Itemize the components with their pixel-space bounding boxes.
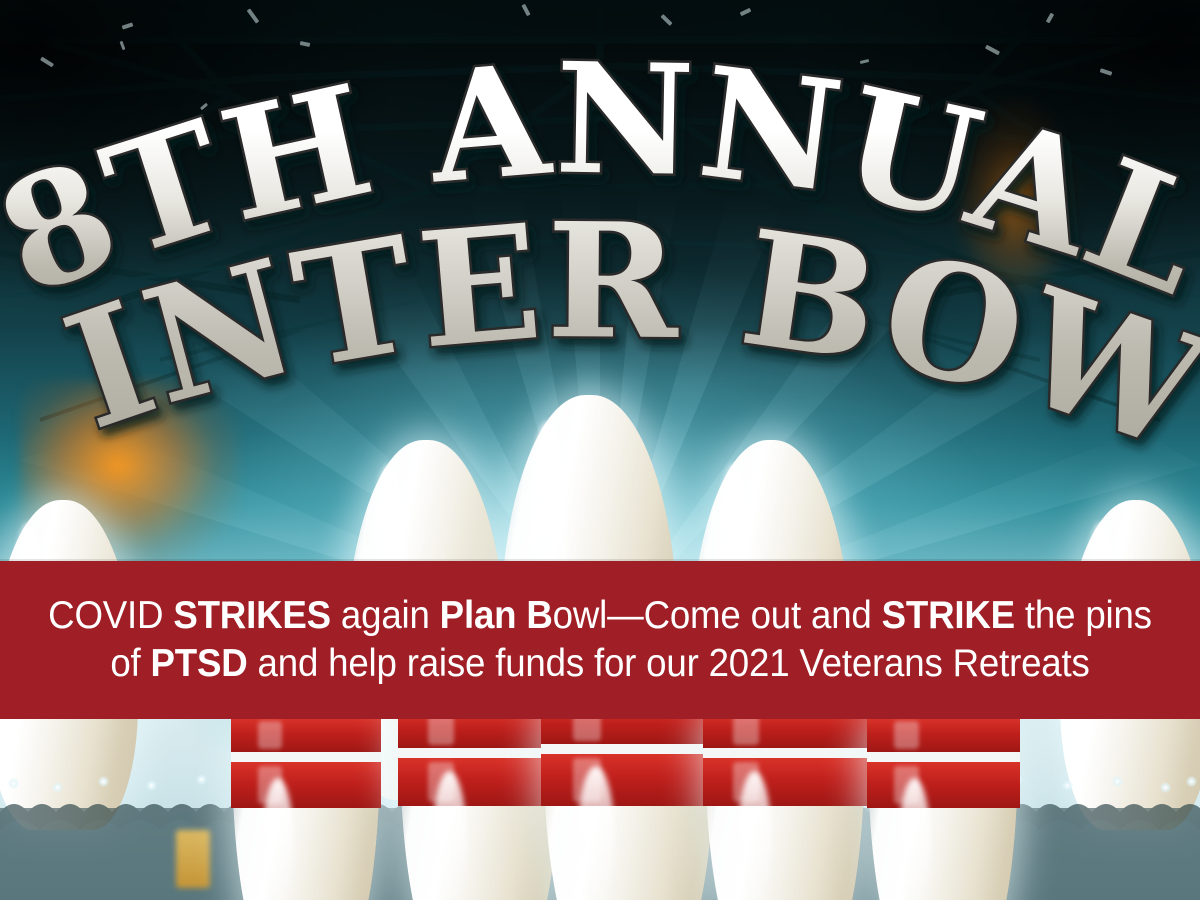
bowling-pin-icon (705, 690, 865, 900)
bowling-pin-icon (400, 690, 560, 900)
bowling-pin-icon (232, 700, 380, 900)
bowling-pins-lower (0, 0, 1200, 900)
banner-text: of (110, 642, 150, 685)
banner-emphasis: Plan B (440, 594, 553, 637)
banner-text: owl—Come out and (553, 594, 882, 637)
banner-text: the pins (1015, 594, 1152, 637)
announcement-banner: COVID STRIKES again Plan Bowl—Come out a… (0, 561, 1200, 719)
banner-line-2: of PTSD and help raise funds for our 202… (36, 640, 1164, 688)
banner-emphasis: PTSD (151, 642, 248, 685)
banner-text: COVID (48, 594, 173, 637)
banner-text: and help raise funds for our 2021 Vetera… (248, 642, 1090, 685)
bowling-pin-icon (868, 700, 1018, 900)
banner-emphasis: STRIKES (173, 594, 331, 637)
banner-emphasis: STRIKE (882, 594, 1015, 637)
winter-bowl-poster: 8TH ANNUAL WINTER BOWL COVID STRIKES aga… (0, 0, 1200, 900)
banner-line-1: COVID STRIKES again Plan Bowl—Come out a… (36, 592, 1164, 640)
banner-text: again (331, 594, 440, 637)
